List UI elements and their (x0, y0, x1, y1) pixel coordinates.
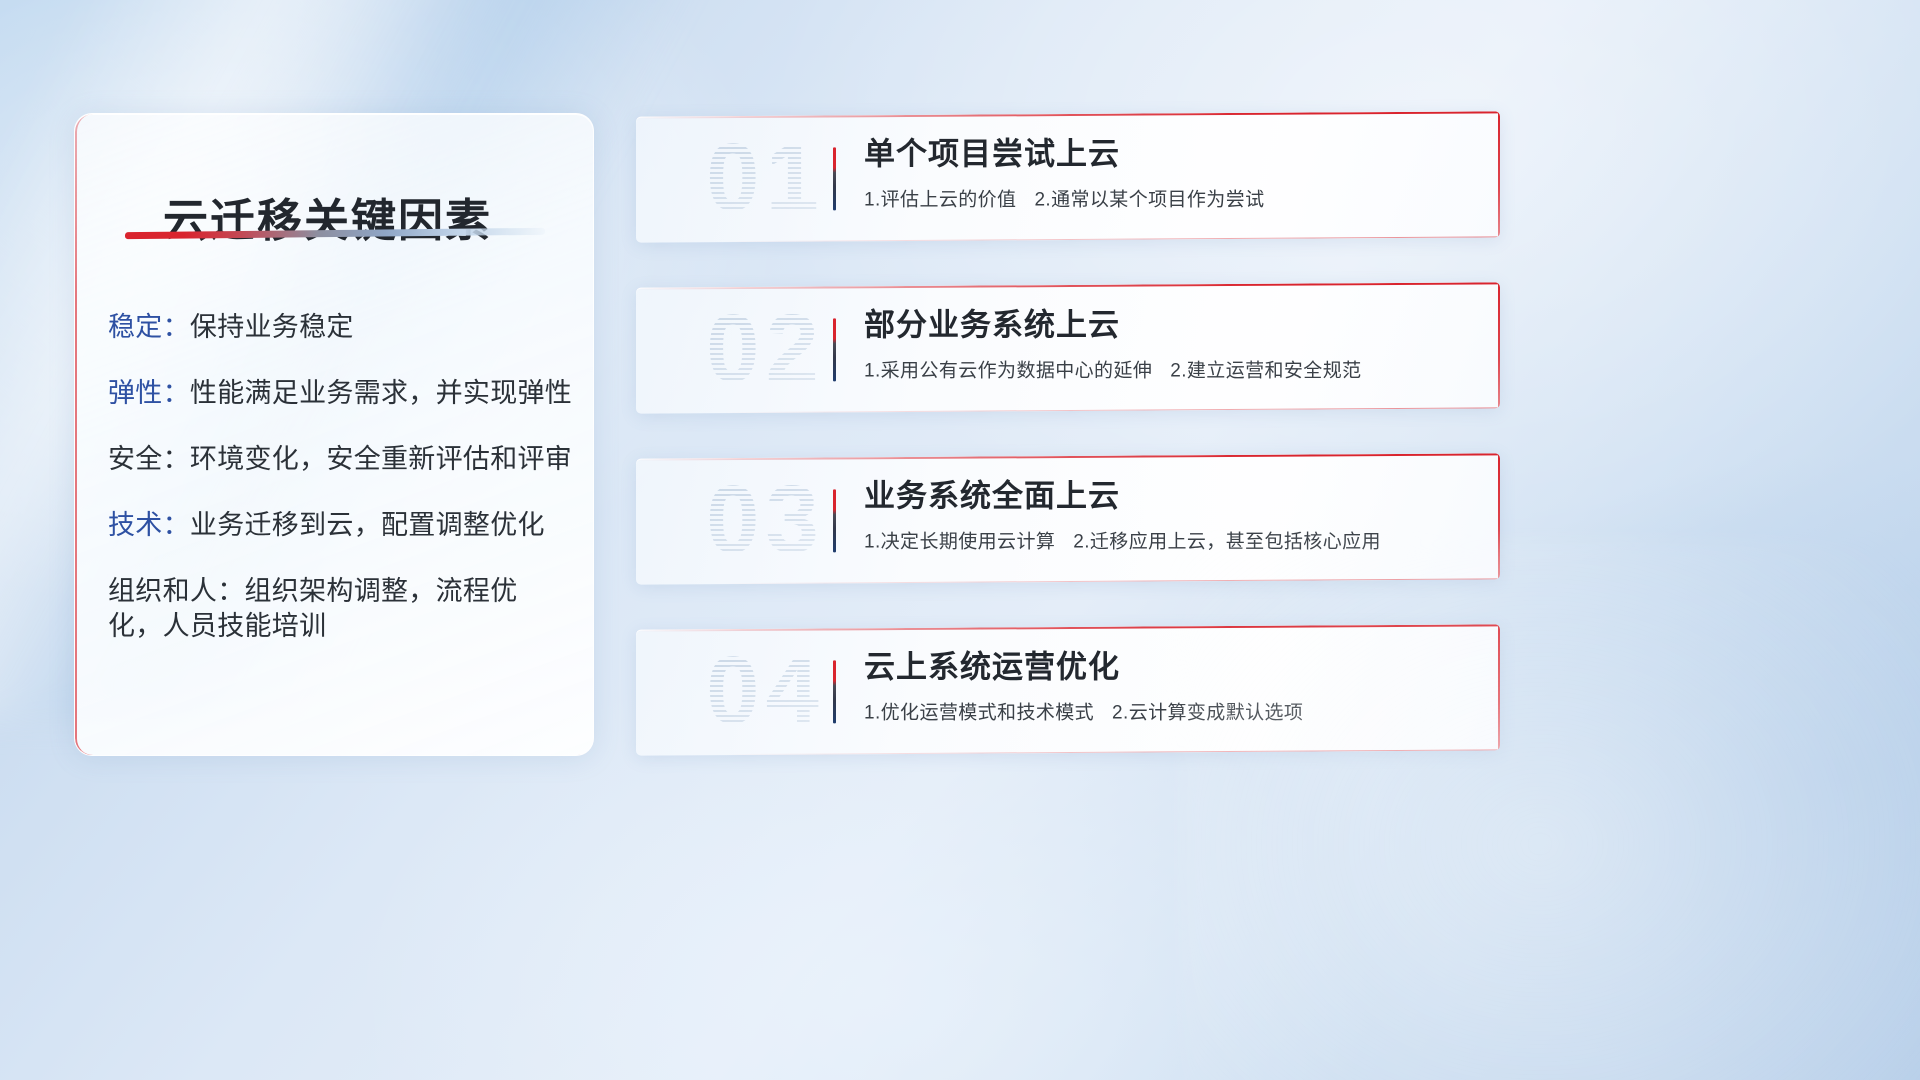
key-factors-panel: 云迁移关键因素 稳定：保持业务稳定 弹性：性能满足业务需求，并实现弹性 安全：环… (74, 113, 594, 756)
step-text-block: 单个项目尝试上云 1.评估上云的价值2.通常以某个项目作为尝试 (864, 135, 1480, 211)
factor-text: 环境变化，安全重新评估和评审 (190, 444, 572, 474)
step-card-02[interactable]: 02 部分业务系统上云 1.采用公有云作为数据中心的延伸2.建立运营和安全规范 (636, 282, 1500, 413)
factor-text: 业务迁移到云，配置调整优化 (190, 510, 545, 540)
step-text-block: 云上系统运营优化 1.优化运营模式和技术模式2.云计算变成默认选项 (864, 648, 1480, 724)
step-description: 1.评估上云的价值2.通常以某个项目作为尝试 (864, 184, 1480, 211)
factor-label: 安全： (108, 444, 190, 474)
step-description: 1.采用公有云作为数据中心的延伸2.建立运营和安全规范 (864, 355, 1480, 382)
factor-text: 性能满足业务需求，并实现弹性 (190, 378, 572, 408)
step-point: 1.采用公有云作为数据中心的延伸 (864, 360, 1152, 381)
factor-label: 组织和人： (108, 576, 245, 606)
factor-row: 稳定：保持业务稳定 (108, 310, 571, 345)
factor-label: 稳定： (108, 312, 190, 342)
factor-label: 技术： (108, 510, 190, 540)
card-accent-topline (636, 111, 1500, 118)
step-point: 2.通常以某个项目作为尝试 (1034, 189, 1264, 210)
step-title: 单个项目尝试上云 (864, 135, 1480, 174)
factor-row: 安全：环境变化，安全重新评估和评审 (108, 442, 571, 477)
card-accent-topline (636, 453, 1500, 460)
factor-list: 稳定：保持业务稳定 弹性：性能满足业务需求，并实现弹性 安全：环境变化，安全重新… (108, 310, 571, 676)
factor-row: 技术：业务迁移到云，配置调整优化 (108, 508, 571, 543)
step-title: 部分业务系统上云 (864, 306, 1480, 345)
step-number-watermark: 01 (658, 122, 873, 234)
card-accent-bottomline (636, 749, 1500, 755)
step-number-watermark: 02 (658, 293, 873, 405)
card-accent-bottomline (636, 578, 1500, 584)
step-divider-bar (833, 660, 836, 723)
step-description: 1.优化运营模式和技术模式2.云计算变成默认选项 (864, 697, 1480, 724)
step-point: 2.建立运营和安全规范 (1170, 360, 1361, 381)
slide-canvas: 云迁移关键因素 稳定：保持业务稳定 弹性：性能满足业务需求，并实现弹性 安全：环… (0, 0, 1920, 1080)
step-point: 2.云计算变成默认选项 (1112, 702, 1303, 723)
factor-row: 组织和人：组织架构调整，流程优化，人员技能培训 (108, 574, 571, 644)
step-text-block: 部分业务系统上云 1.采用公有云作为数据中心的延伸2.建立运营和安全规范 (864, 306, 1480, 382)
card-accent-rightline (1498, 111, 1500, 237)
card-accent-topline (636, 282, 1500, 289)
step-card-03[interactable]: 03 业务系统全面上云 1.决定长期使用云计算2.迁移应用上云，甚至包括核心应用 (636, 453, 1500, 584)
step-point: 1.决定长期使用云计算 (864, 531, 1055, 552)
card-accent-rightline (1498, 282, 1500, 408)
step-point: 2.迁移应用上云，甚至包括核心应用 (1073, 531, 1381, 552)
step-point: 1.评估上云的价值 (864, 189, 1016, 210)
factor-row: 弹性：性能满足业务需求，并实现弹性 (108, 376, 571, 411)
factor-label: 弹性： (108, 378, 190, 408)
card-accent-rightline (1498, 624, 1500, 750)
step-divider-bar (833, 489, 836, 552)
step-description: 1.决定长期使用云计算2.迁移应用上云，甚至包括核心应用 (864, 526, 1480, 553)
card-accent-topline (636, 624, 1500, 631)
step-card-01[interactable]: 01 单个项目尝试上云 1.评估上云的价值2.通常以某个项目作为尝试 (636, 111, 1500, 242)
factor-text: 保持业务稳定 (190, 312, 354, 342)
card-accent-bottomline (636, 236, 1500, 242)
step-card-04[interactable]: 04 云上系统运营优化 1.优化运营模式和技术模式2.云计算变成默认选项 (636, 624, 1500, 755)
card-accent-bottomline (636, 407, 1500, 413)
migration-steps-list: 01 单个项目尝试上云 1.评估上云的价值2.通常以某个项目作为尝试 02 部分… (636, 114, 1500, 798)
step-divider-bar (833, 147, 836, 210)
step-title: 业务系统全面上云 (864, 477, 1480, 516)
step-divider-bar (833, 318, 836, 381)
step-text-block: 业务系统全面上云 1.决定长期使用云计算2.迁移应用上云，甚至包括核心应用 (864, 477, 1480, 553)
step-title: 云上系统运营优化 (864, 648, 1480, 687)
panel-title: 云迁移关键因素 (163, 184, 492, 249)
step-number-watermark: 04 (658, 635, 873, 747)
step-number-watermark: 03 (658, 464, 873, 576)
step-point: 1.优化运营模式和技术模式 (864, 702, 1094, 723)
card-accent-rightline (1498, 453, 1500, 579)
